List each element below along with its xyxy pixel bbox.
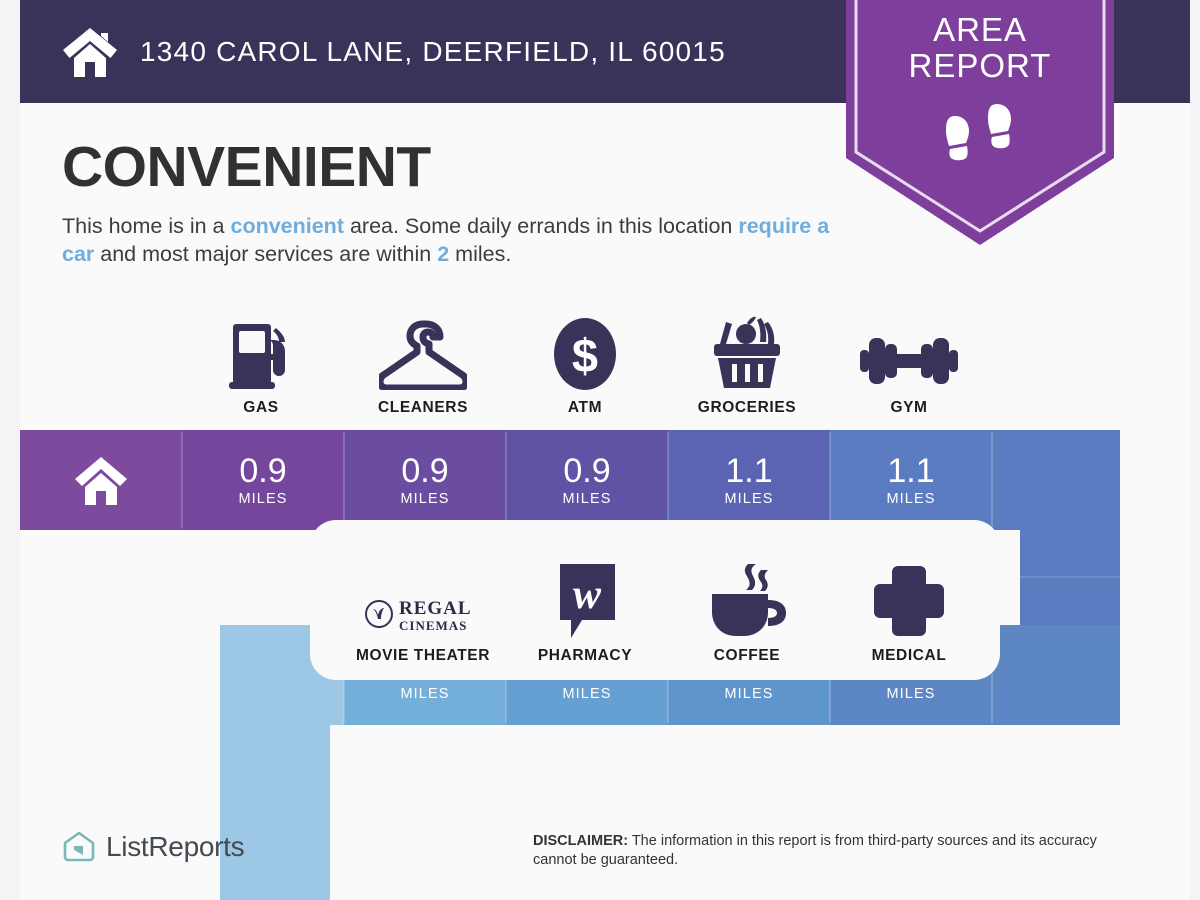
- category-atm: $ ATM: [504, 312, 666, 417]
- category-label: ATM: [568, 399, 602, 417]
- desc-part-4: miles.: [449, 242, 511, 266]
- ribbon-home-cell: [20, 430, 182, 530]
- distance-value: 1.1: [725, 454, 772, 488]
- distance-cell-gas: 0.9 MILES: [182, 430, 344, 530]
- home-icon: [60, 26, 120, 78]
- distance-unit: MILES: [886, 491, 935, 507]
- listreports-logo: ListReports: [62, 830, 244, 864]
- desc-part-3: and most major services are within: [94, 242, 437, 266]
- category-medical: MEDICAL: [828, 560, 990, 665]
- footprints-icon: [846, 102, 1114, 164]
- category-label: MEDICAL: [872, 647, 947, 665]
- grocery-basket-icon: [706, 312, 788, 390]
- category-label: GROCERIES: [698, 399, 796, 417]
- page-title: CONVENIENT: [62, 134, 431, 200]
- distance-unit: MILES: [400, 686, 449, 702]
- page-description: This home is in a convenient area. Some …: [62, 212, 852, 268]
- category-gas: GAS: [180, 312, 342, 417]
- desc-highlight-3: 2: [437, 242, 449, 266]
- listreports-house-icon: [62, 830, 96, 864]
- category-label: CLEANERS: [378, 399, 468, 417]
- disclaimer-label: DISCLAIMER:: [533, 833, 628, 849]
- distance-value: 0.9: [563, 454, 610, 488]
- category-label: MOVIE THEATER: [356, 647, 490, 665]
- category-label: GYM: [890, 399, 927, 417]
- distance-unit: MILES: [562, 491, 611, 507]
- svg-text:REGAL: REGAL: [399, 598, 472, 619]
- distance-cell-gym: 1.1 MILES: [830, 430, 992, 530]
- svg-text:$: $: [572, 329, 598, 382]
- svg-text:CINEMAS: CINEMAS: [399, 618, 467, 633]
- report-page: 0.9 MILES 0.9 MILES 0.9 MILES 1.1 MILES …: [0, 0, 1200, 900]
- property-address: 1340 CAROL LANE, DEERFIELD, IL 60015: [140, 36, 726, 68]
- dollar-circle-icon: $: [554, 312, 616, 390]
- category-coffee: COFFEE: [666, 560, 828, 665]
- icon-row-secondary: REGAL CINEMAS MOVIE THEATER w PHARMACY: [342, 560, 990, 665]
- walgreens-w-icon: w: [552, 560, 618, 638]
- hanger-icon: [379, 312, 467, 390]
- desc-highlight-1: convenient: [230, 214, 344, 238]
- badge-line-1: AREA: [846, 12, 1114, 48]
- area-report-badge: AREA REPORT: [846, 0, 1114, 245]
- gas-pump-icon: [227, 312, 295, 390]
- badge-line-2: REPORT: [846, 48, 1114, 84]
- distance-unit: MILES: [724, 491, 773, 507]
- distance-value: 1.1: [887, 454, 934, 488]
- category-gym: GYM: [828, 312, 990, 417]
- distance-cell-groceries: 1.1 MILES: [668, 430, 830, 530]
- category-movie-theater: REGAL CINEMAS MOVIE THEATER: [342, 560, 504, 665]
- distance-unit: MILES: [886, 686, 935, 702]
- category-cleaners: CLEANERS: [342, 312, 504, 417]
- svg-text:w: w: [573, 572, 602, 618]
- category-groceries: GROCERIES: [666, 312, 828, 417]
- regal-cinemas-logo: REGAL CINEMAS: [363, 560, 483, 638]
- right-margin-strip: [1190, 0, 1200, 900]
- home-icon: [73, 455, 129, 505]
- distance-unit: MILES: [562, 686, 611, 702]
- distance-unit: MILES: [238, 491, 287, 507]
- distance-value: 0.9: [239, 454, 286, 488]
- category-label: PHARMACY: [538, 647, 632, 665]
- listreports-wordmark: ListReports: [106, 831, 244, 863]
- left-margin-strip: [0, 0, 20, 900]
- distance-unit: MILES: [400, 491, 449, 507]
- badge-title: AREA REPORT: [846, 12, 1114, 84]
- icon-row-primary: GAS CLEANERS $ ATM: [180, 312, 990, 417]
- coffee-cup-icon: [704, 560, 790, 638]
- distance-unit: MILES: [724, 686, 773, 702]
- medical-cross-icon: [872, 560, 946, 638]
- desc-part-1: This home is in a: [62, 214, 230, 238]
- desc-part-2: area. Some daily errands in this locatio…: [344, 214, 738, 238]
- category-label: GAS: [243, 399, 278, 417]
- distance-value: 0.9: [401, 454, 448, 488]
- disclaimer: DISCLAIMER: The information in this repo…: [533, 832, 1133, 870]
- distance-cell-atm: 0.9 MILES: [506, 430, 668, 530]
- category-pharmacy: w PHARMACY: [504, 560, 666, 665]
- distance-cell-cleaners: 0.9 MILES: [344, 430, 506, 530]
- category-label: COFFEE: [714, 647, 780, 665]
- dumbbell-icon: [860, 312, 958, 390]
